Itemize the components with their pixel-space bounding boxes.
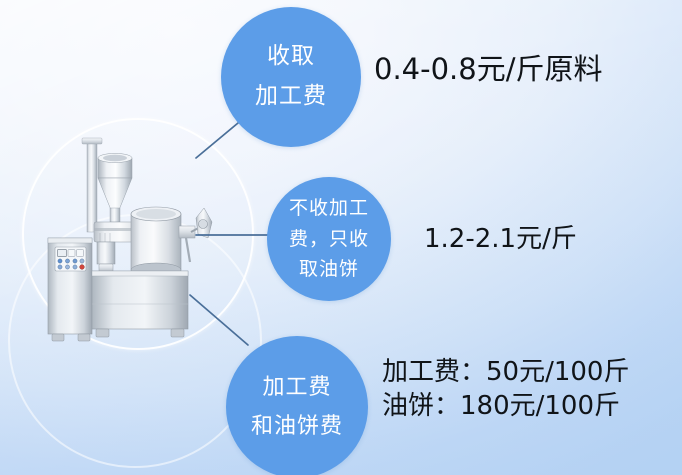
price-caption-2: 1.2-2.1元/斤	[424, 218, 577, 255]
caption-3-line-2: 油饼：180元/100斤	[382, 389, 629, 423]
bubble-3-line-1: 加工费	[262, 368, 331, 407]
option-bubble-collect-processing-fee[interactable]: 收取 加工费	[221, 7, 361, 147]
infographic-canvas: 收取 加工费 0.4-0.8元/斤原料 不收加工 费，只收 取油饼 1.2-2.…	[0, 0, 682, 475]
bubble-2-line-2: 费，只收	[289, 224, 369, 254]
caption-2-line-1: 1.2-2.1元/斤	[424, 224, 577, 254]
option-bubble-oilcake-only[interactable]: 不收加工 费，只收 取油饼	[267, 177, 391, 301]
price-caption-3: 加工费：50元/100斤 油饼：180元/100斤	[382, 355, 629, 424]
option-bubble-fee-and-oilcake[interactable]: 加工费 和油饼费	[226, 336, 368, 475]
price-caption-1: 0.4-0.8元/斤原料	[374, 46, 602, 88]
bubble-2-line-1: 不收加工	[289, 193, 369, 223]
caption-3-line-1: 加工费：50元/100斤	[382, 355, 629, 389]
caption-1-line-1: 0.4-0.8元/斤原料	[374, 52, 602, 86]
bubble-1-line-2: 加工费	[255, 77, 327, 117]
bubble-3-line-2: 和油饼费	[251, 407, 343, 446]
bubble-1-line-1: 收取	[267, 37, 315, 77]
oil-press-machine-illustration	[36, 134, 216, 344]
bubble-2-line-3: 取油饼	[299, 254, 359, 284]
